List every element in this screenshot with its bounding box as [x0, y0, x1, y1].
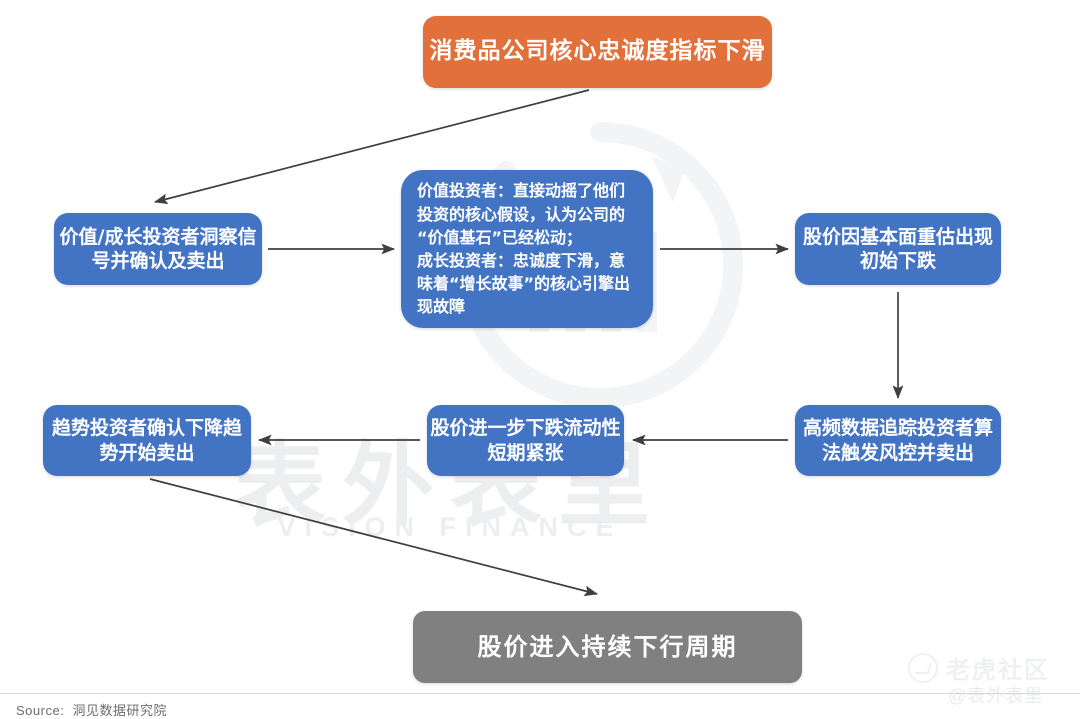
node-initial-drop[interactable]: 股价因基本面重估出现初始下跌: [795, 213, 1001, 285]
node-investor-detail[interactable]: 价值投资者：直接动摇了他们投资的核心假设，认为公司的“价值基石”已经松动； 成长…: [401, 170, 653, 328]
node-investor-detail-line2: 成长投资者：忠诚度下滑，意味着“增长故事”的核心引擎出现故障: [417, 251, 630, 316]
node-algo-risk-control[interactable]: 高频数据追踪投资者算法触发风控并卖出: [795, 405, 1001, 476]
source-label: Source:: [16, 703, 64, 718]
node-detect-signal[interactable]: 价值/成长投资者洞察信号并确认及卖出: [54, 213, 262, 285]
node-further-drop[interactable]: 股价进一步下跌流动性短期紧张: [427, 405, 624, 476]
footer-divider: [0, 693, 1080, 694]
source-note: Source: 洞见数据研究院: [16, 700, 167, 719]
edge-trend-to-cycle: [150, 479, 597, 594]
node-trigger[interactable]: 消费品公司核心忠诚度指标下滑: [423, 16, 772, 88]
node-downward-cycle[interactable]: 股价进入持续下行周期: [413, 611, 802, 683]
node-trend-investors[interactable]: 趋势投资者确认下降趋势开始卖出: [43, 405, 251, 476]
source-value: 洞见数据研究院: [73, 703, 168, 718]
diagram-canvas: 表外表里 VISION FINANCE 老虎社区 @表外表里 消费品公司核心忠诚…: [0, 0, 1080, 719]
node-investor-detail-line1: 价值投资者：直接动摇了他们投资的核心假设，认为公司的“价值基石”已经松动；: [417, 181, 625, 246]
